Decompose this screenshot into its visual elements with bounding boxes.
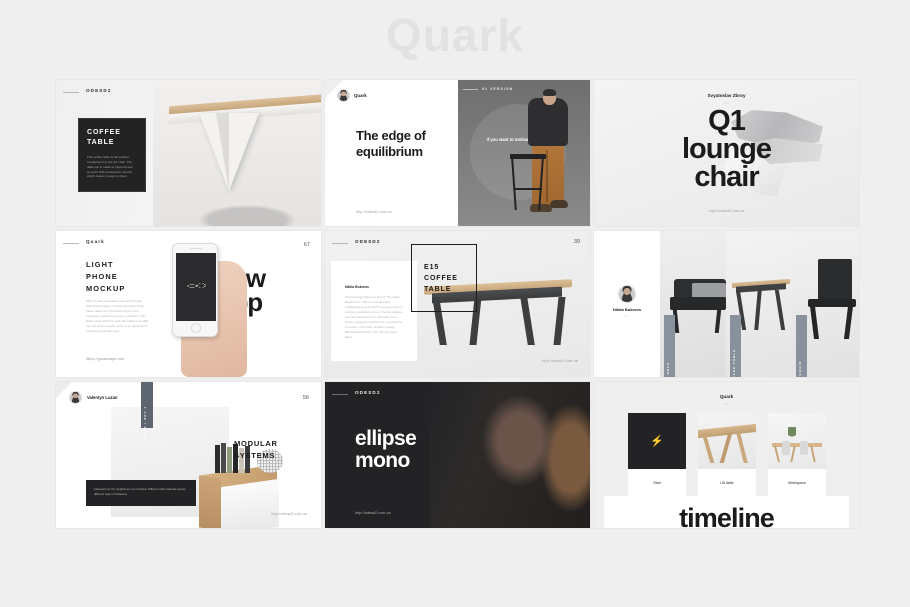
desk-leg-2 bbox=[790, 446, 795, 462]
coffee-table-title: COFFEETABLE bbox=[87, 128, 137, 148]
e15-text-column: Nikita Bukoros Product design this is my… bbox=[331, 261, 417, 361]
u5-table-thumbnail bbox=[698, 413, 756, 469]
collection-item-sofa[interactable]: E1 SOFA bbox=[660, 231, 726, 377]
person-shoe-right bbox=[550, 200, 568, 208]
avatar bbox=[618, 285, 636, 303]
page-number: 39 bbox=[574, 239, 580, 245]
modular-note-card: Fasteners for the uprights are not inclu… bbox=[86, 480, 196, 506]
timeline-footer-title: timeline bbox=[594, 503, 859, 528]
corner-rule bbox=[332, 243, 348, 244]
light-phone-body: B81 is a wide and stable chair with prim… bbox=[86, 299, 152, 334]
book-2 bbox=[221, 443, 226, 473]
table-leg-4 bbox=[553, 297, 565, 345]
stool-seat bbox=[510, 154, 546, 159]
slide-url[interactable]: https://goodshape.com bbox=[86, 357, 125, 361]
cabinet-side bbox=[199, 475, 221, 528]
phone-home-button bbox=[191, 323, 201, 333]
q1-title: Q1loungechair bbox=[594, 108, 859, 191]
version-label: 01 VERSION bbox=[482, 87, 513, 91]
person-torso bbox=[528, 98, 568, 146]
slide-light-phone-mockup[interactable]: Quark 67 NewApp LIGHTPHONEMOCKUP B81 is … bbox=[56, 231, 321, 377]
table-leg-1 bbox=[702, 433, 715, 463]
slide-brand-label: ODESD2 bbox=[355, 390, 381, 395]
collection-author-panel: Nikita Bukoros ••• bbox=[594, 231, 660, 377]
desk-top-shape bbox=[772, 443, 822, 447]
avatar bbox=[337, 89, 350, 102]
equilibrium-left-panel: Quark The edge ofequilibrium http://odes… bbox=[325, 80, 458, 226]
page-number: 56 bbox=[303, 395, 309, 401]
chair-back bbox=[818, 259, 852, 301]
presentation-preview: Quark ODESD2 COFFEETABLE This coffee tab… bbox=[0, 0, 910, 607]
workspace-thumbnail bbox=[768, 413, 826, 469]
slide-edge-of-equilibrium[interactable]: Quark The edge ofequilibrium http://odes… bbox=[325, 80, 590, 226]
cone-shadow-shape bbox=[216, 113, 229, 191]
signature-graphic bbox=[185, 281, 209, 291]
phone-mockup bbox=[172, 243, 218, 337]
coffee-table-body: This coffee table is the perfect complem… bbox=[87, 155, 137, 179]
collection-item-chair[interactable]: E6 CHAIR bbox=[792, 231, 859, 377]
watermark-title: Quark bbox=[0, 8, 910, 62]
slide-timeline[interactable]: Quark ••• ⚡ Start U5 table bbox=[594, 382, 859, 528]
desk-leg-3 bbox=[810, 446, 815, 462]
slide-q1-lounge-chair[interactable]: Svyatoslav Zbroy ••• Q1loungechair http:… bbox=[594, 80, 859, 226]
table-leg-3 bbox=[775, 290, 785, 330]
coffee-table-photo bbox=[153, 80, 321, 226]
card-caption: U5 table bbox=[698, 469, 756, 497]
item-tag-coffee-table: E15 COFFEE TABLE bbox=[730, 315, 741, 377]
timeline-cards: ⚡ Start U5 table bbox=[628, 413, 828, 497]
slide-brand-label: ODESD2 bbox=[86, 88, 112, 93]
chair-leg-right bbox=[844, 306, 853, 339]
item-tag-chair: E6 CHAIR bbox=[796, 315, 807, 377]
chair-leg-left bbox=[810, 306, 819, 339]
slide-brand-label: Quark bbox=[86, 239, 105, 244]
timeline-card-workspace[interactable]: Workspace bbox=[768, 413, 826, 497]
workspace-chair-2 bbox=[800, 441, 808, 455]
table-leg-2 bbox=[754, 290, 761, 330]
slide-url[interactable]: http://odesd2.com.ua bbox=[355, 511, 391, 515]
card-caption: Workspace bbox=[768, 469, 826, 497]
author-name: Quark bbox=[354, 93, 367, 98]
plant-decor bbox=[788, 427, 796, 441]
table-leg-3 bbox=[520, 297, 535, 345]
stool-illustration bbox=[510, 154, 546, 210]
author-name: Nikita Bukoros bbox=[594, 307, 660, 312]
portrait-photo bbox=[430, 382, 590, 528]
designer-name: Svyatoslav Zbroy bbox=[594, 93, 859, 98]
collection-item-coffee-table[interactable]: E15 COFFEE TABLE bbox=[726, 231, 792, 377]
ellipse-mono-title: ellipsemono bbox=[355, 428, 416, 473]
page-number: 67 bbox=[304, 242, 310, 248]
slide-coffee-table[interactable]: ODESD2 COFFEETABLE This coffee table is … bbox=[56, 80, 321, 226]
cone-base-shape bbox=[199, 113, 259, 191]
slide-brand-label: ODESD2 bbox=[355, 239, 381, 244]
stool-crossbar bbox=[514, 188, 542, 190]
chair-illustration bbox=[808, 259, 858, 339]
slide-url[interactable]: http://odesd2.com.ua bbox=[356, 210, 392, 214]
corner-rule bbox=[63, 92, 79, 93]
slide-grid: ODESD2 COFFEETABLE This coffee table is … bbox=[56, 80, 855, 528]
card-caption: Start bbox=[628, 469, 686, 497]
modular-title: MODULARSYSTEMS bbox=[234, 438, 318, 462]
slide-ellipse-mono[interactable]: ODESD2 ellipsemono http://odesd2.com.ua bbox=[325, 382, 590, 528]
light-phone-title: LIGHTPHONEMOCKUP bbox=[86, 259, 125, 295]
workspace-chair-1 bbox=[782, 441, 790, 455]
book-1 bbox=[215, 445, 220, 473]
slide-modular-systems[interactable]: Valentyn Luzan 56 SET 10 / SET 1 MODULAR… bbox=[56, 382, 321, 528]
desk-leg-1 bbox=[774, 446, 780, 462]
brand-subtitle: ••• bbox=[594, 402, 859, 406]
author-name: Valentyn Luzan bbox=[87, 395, 117, 400]
timeline-card-u5-table[interactable]: U5 table bbox=[698, 413, 756, 497]
timeline-card-start[interactable]: ⚡ Start bbox=[628, 413, 686, 497]
version-rule bbox=[463, 89, 478, 90]
phone-screen bbox=[176, 253, 216, 321]
avatar bbox=[69, 391, 82, 404]
author-name: Nikita Bukoros bbox=[345, 285, 417, 289]
lightning-logo-icon: ⚡ bbox=[650, 435, 664, 448]
e15-title: E15COFFEETABLE bbox=[424, 263, 476, 296]
slide-url[interactable]: http://odesd2.com.ua bbox=[709, 209, 745, 213]
table-leg-3 bbox=[736, 433, 747, 463]
phone-speaker bbox=[190, 248, 202, 249]
item-tag-sofa: E1 SOFA bbox=[664, 315, 675, 377]
modular-note-text: Fasteners for the uprights are not inclu… bbox=[94, 487, 188, 497]
corner-rule bbox=[332, 394, 348, 395]
author-subtitle: ••• bbox=[594, 315, 660, 318]
e15-body: Product design this is my kind of "The G… bbox=[345, 295, 403, 340]
slide-collection[interactable]: Nikita Bukoros ••• E1 SOFA bbox=[594, 231, 859, 377]
equilibrium-title: The edge ofequilibrium bbox=[356, 128, 456, 160]
sofa-leg-right bbox=[715, 309, 722, 333]
stool-leg-right bbox=[538, 159, 544, 210]
slide-e15-coffee-table[interactable]: ODESD2 39 Nikita Bukoros Product design … bbox=[325, 231, 590, 377]
book-3 bbox=[227, 447, 232, 473]
slide-brand-label: Quark bbox=[594, 394, 859, 399]
cabinet-front bbox=[221, 479, 279, 528]
person-hair bbox=[543, 89, 556, 96]
stool-leg-left bbox=[511, 159, 517, 210]
slide-url[interactable]: http://odesd2.com.ua bbox=[271, 512, 307, 516]
sofa-illustration bbox=[670, 279, 726, 337]
table-leg-2 bbox=[720, 433, 733, 463]
corner-rule bbox=[63, 243, 79, 244]
start-thumbnail: ⚡ bbox=[628, 413, 686, 469]
slide-url[interactable]: http://odesd2.com.ua bbox=[542, 359, 578, 363]
person-leg-split bbox=[546, 150, 548, 202]
equilibrium-photo: 01 VERSION If you want to motivate them … bbox=[458, 80, 590, 226]
e15-title-frame: E15COFFEETABLE bbox=[411, 244, 477, 312]
coffee-table-card: COFFEETABLE This coffee table is the per… bbox=[78, 118, 146, 192]
set-label-tag: SET 10 / SET 1 bbox=[141, 382, 153, 428]
